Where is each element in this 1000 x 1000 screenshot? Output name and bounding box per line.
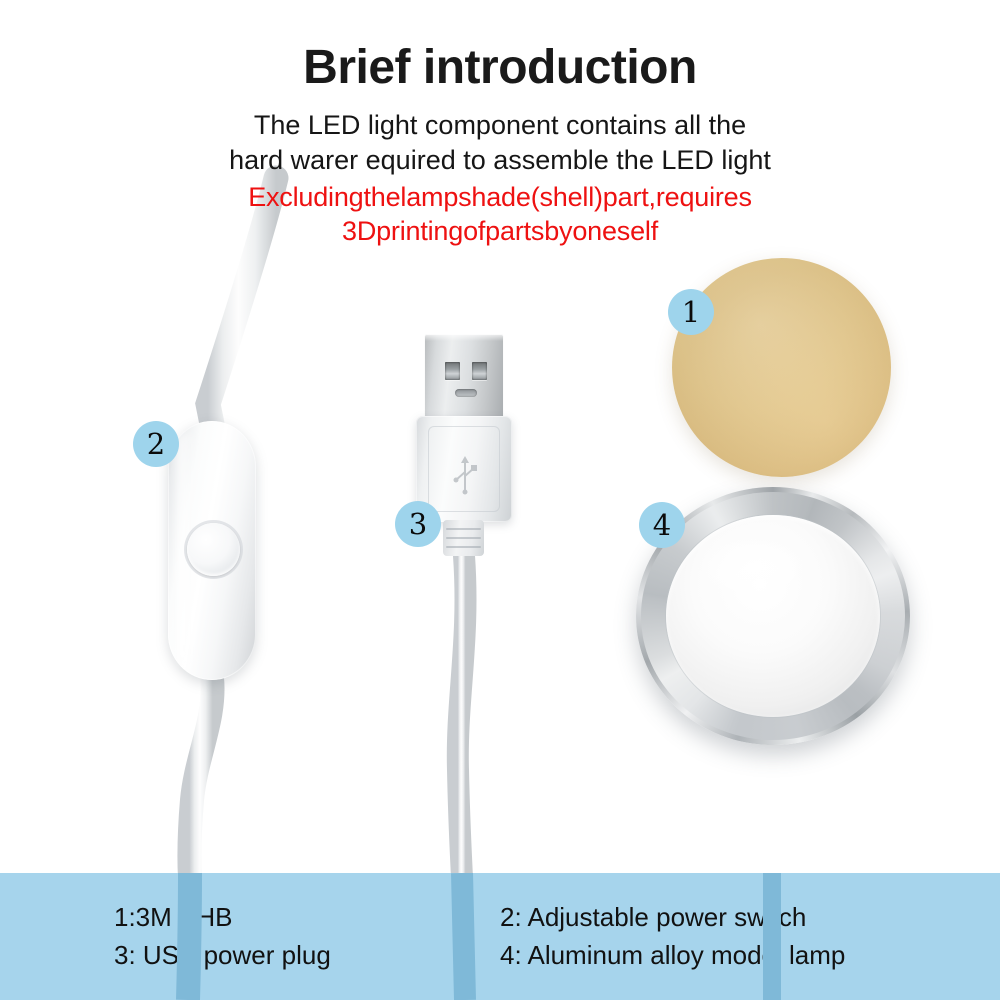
description-line-2: hard warer equired to assemble the LED l… bbox=[0, 143, 1000, 178]
description-line-1: The LED light component contains all the bbox=[0, 108, 1000, 143]
vhb-adhesive-disc bbox=[672, 258, 891, 477]
cable-layer-banner bbox=[0, 873, 1000, 1000]
warning-text: Excludingthelampshade(shell)part,require… bbox=[0, 181, 1000, 249]
lamp-diffuser-face bbox=[666, 515, 880, 717]
description-text: The LED light component contains all the… bbox=[0, 108, 1000, 177]
usb-center-notch bbox=[455, 389, 477, 397]
infographic-canvas: Brief introduction The LED light compone… bbox=[0, 0, 1000, 1000]
badge-3-label: 3 bbox=[409, 510, 427, 539]
usb-contact-slot-left bbox=[445, 362, 460, 380]
page-title: Brief introduction bbox=[0, 44, 1000, 92]
badge-2-switch[interactable]: 2 bbox=[133, 421, 179, 467]
badge-2-label: 2 bbox=[147, 430, 165, 459]
warning-line-1: Excludingthelampshade(shell)part,require… bbox=[0, 181, 1000, 215]
usb-contact-slot-right bbox=[472, 362, 487, 380]
badge-4-label: 4 bbox=[653, 511, 671, 540]
power-switch bbox=[168, 421, 256, 680]
usb-strain-relief bbox=[443, 520, 484, 556]
cable-usb bbox=[458, 556, 466, 878]
usb-trident-icon bbox=[452, 452, 478, 496]
warning-line-2: 3Dprintingofpartsbyoneself bbox=[0, 215, 1000, 249]
usb-metal-shell bbox=[425, 334, 503, 420]
badge-1-vhb[interactable]: 1 bbox=[668, 289, 714, 335]
cable-switch-lower bbox=[189, 678, 212, 878]
badge-3-usb[interactable]: 3 bbox=[395, 501, 441, 547]
badge-1-label: 1 bbox=[682, 298, 700, 327]
badge-4-lamp[interactable]: 4 bbox=[639, 502, 685, 548]
cable-usb-banner bbox=[462, 873, 465, 1000]
switch-button[interactable] bbox=[187, 523, 240, 576]
cable-switch-banner bbox=[188, 873, 190, 1000]
header-block: Brief introduction The LED light compone… bbox=[0, 0, 1000, 249]
legend-banner: 1:3M VHB 3: USB power plug 2: Adjustable… bbox=[0, 873, 1000, 1000]
